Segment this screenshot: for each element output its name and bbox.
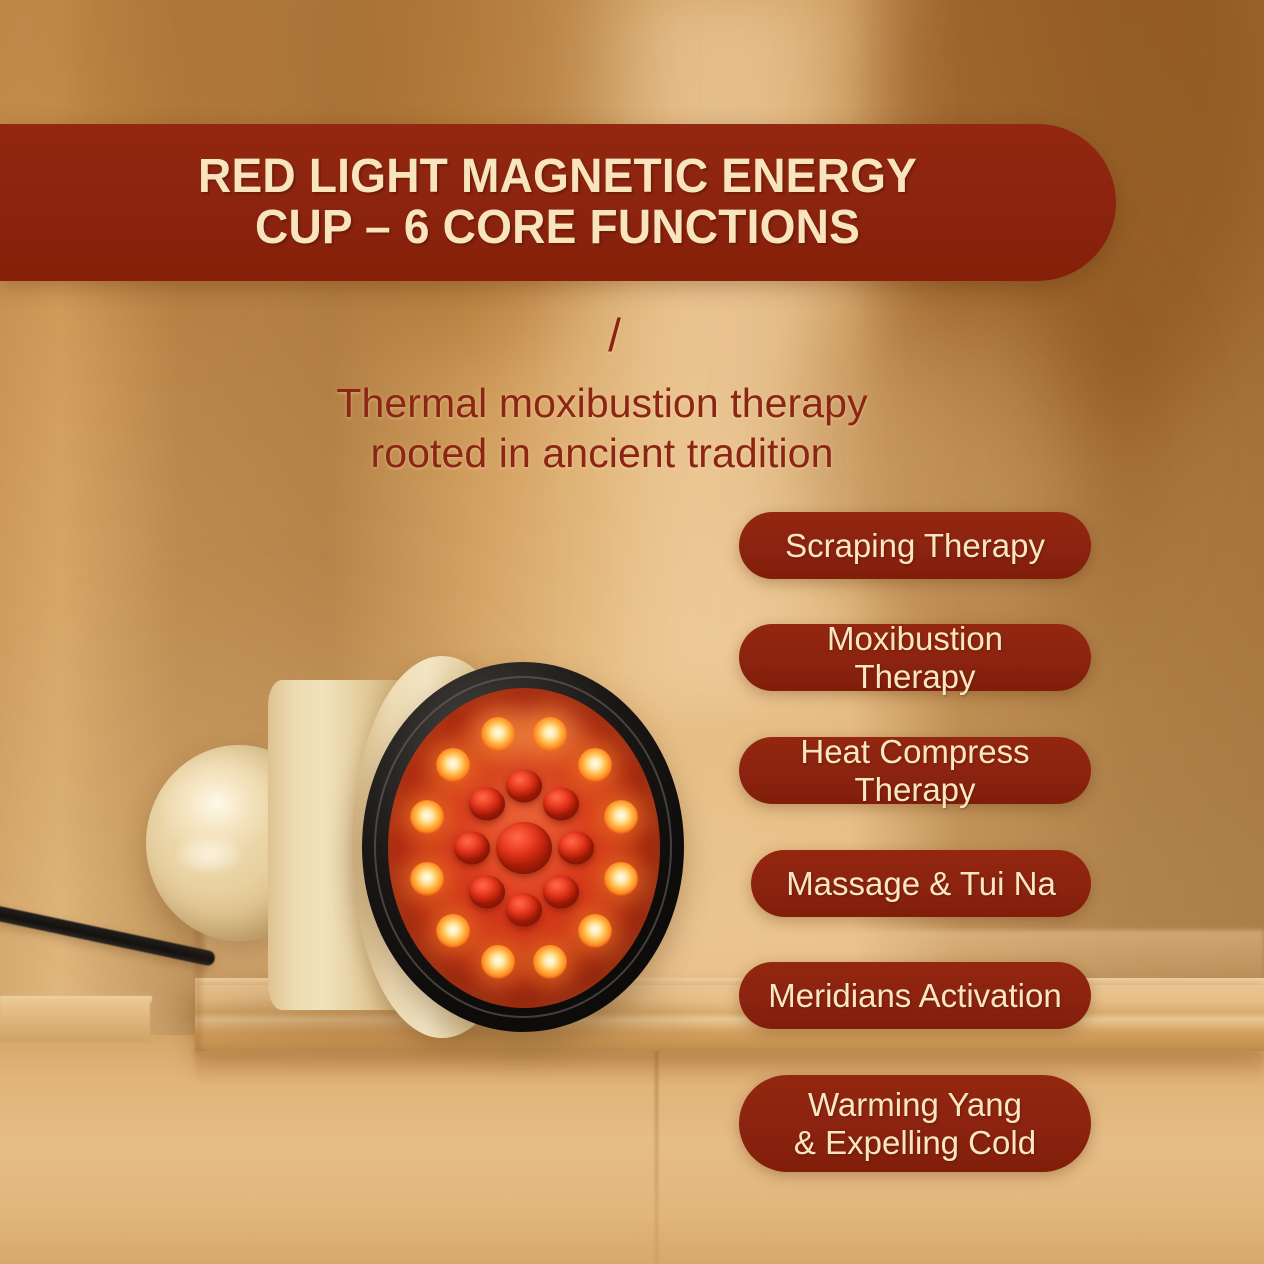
massage-nub (454, 832, 490, 865)
led-light (436, 914, 470, 948)
led-light (481, 945, 515, 979)
subtitle-divider: / (0, 312, 1264, 358)
led-light (481, 717, 515, 751)
feature-pill[interactable]: Massage & Tui Na (751, 850, 1091, 917)
massage-nub (506, 894, 542, 927)
led-light (604, 800, 638, 834)
red-light-face (388, 688, 660, 1008)
massage-nub (543, 875, 579, 908)
feature-pill[interactable]: Heat Compress Therapy (739, 737, 1091, 804)
feature-pill-label: Heat Compress Therapy (765, 733, 1065, 808)
feature-pill[interactable]: Meridians Activation (739, 962, 1091, 1029)
page-title: RED LIGHT MAGNETIC ENERGY CUP – 6 CORE F… (172, 152, 945, 254)
feature-pill[interactable]: Scraping Therapy (739, 512, 1091, 579)
product-device (0, 600, 760, 1070)
feature-pill[interactable]: Warming Yang & Expelling Cold (739, 1075, 1091, 1172)
header-banner: RED LIGHT MAGNETIC ENERGY CUP – 6 CORE F… (0, 124, 1116, 281)
massage-nub (558, 832, 594, 865)
led-light (436, 748, 470, 782)
product-poster: RED LIGHT MAGNETIC ENERGY CUP – 6 CORE F… (0, 0, 1264, 1264)
led-light (578, 748, 612, 782)
feature-pill-label: Massage & Tui Na (786, 865, 1056, 902)
feature-pill-label: Meridians Activation (768, 977, 1061, 1014)
led-light (410, 800, 444, 834)
feature-pill-label: Scraping Therapy (785, 527, 1045, 564)
led-light (604, 862, 638, 896)
led-light (533, 717, 567, 751)
handle-highlight (178, 838, 240, 872)
massage-nub-center (496, 822, 552, 874)
feature-pill-label: Moxibustion Therapy (765, 620, 1065, 695)
led-light (578, 914, 612, 948)
feature-pill-label: Warming Yang & Expelling Cold (794, 1086, 1036, 1161)
massage-nub (469, 788, 505, 821)
led-light (410, 862, 444, 896)
led-light (533, 945, 567, 979)
massage-nub (506, 770, 542, 803)
massage-nub (469, 875, 505, 908)
subtitle-text: Thermal moxibustion therapy rooted in an… (0, 378, 1264, 478)
feature-pill[interactable]: Moxibustion Therapy (739, 624, 1091, 691)
massage-nub (543, 788, 579, 821)
